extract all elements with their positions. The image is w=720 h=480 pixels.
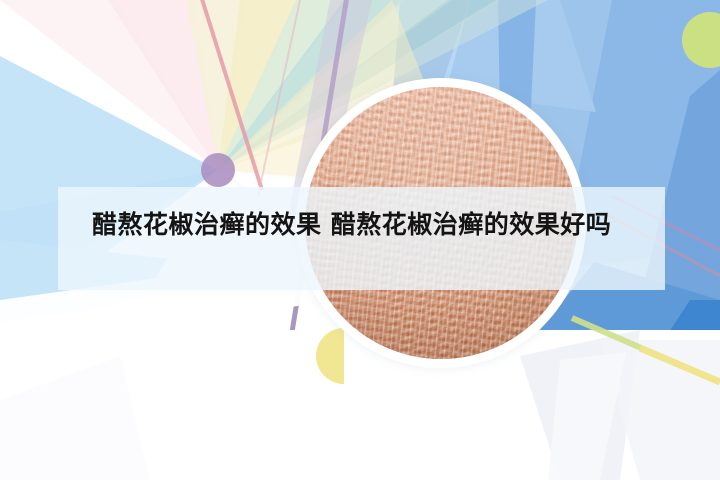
page-title: 醋熬花椒治癣的效果 醋熬花椒治癣的效果好吗 (92, 205, 637, 245)
purple-hub-circle-accent (201, 153, 235, 187)
poster-image: 醋熬花椒治癣的效果 醋熬花椒治癣的效果好吗 (0, 0, 720, 480)
